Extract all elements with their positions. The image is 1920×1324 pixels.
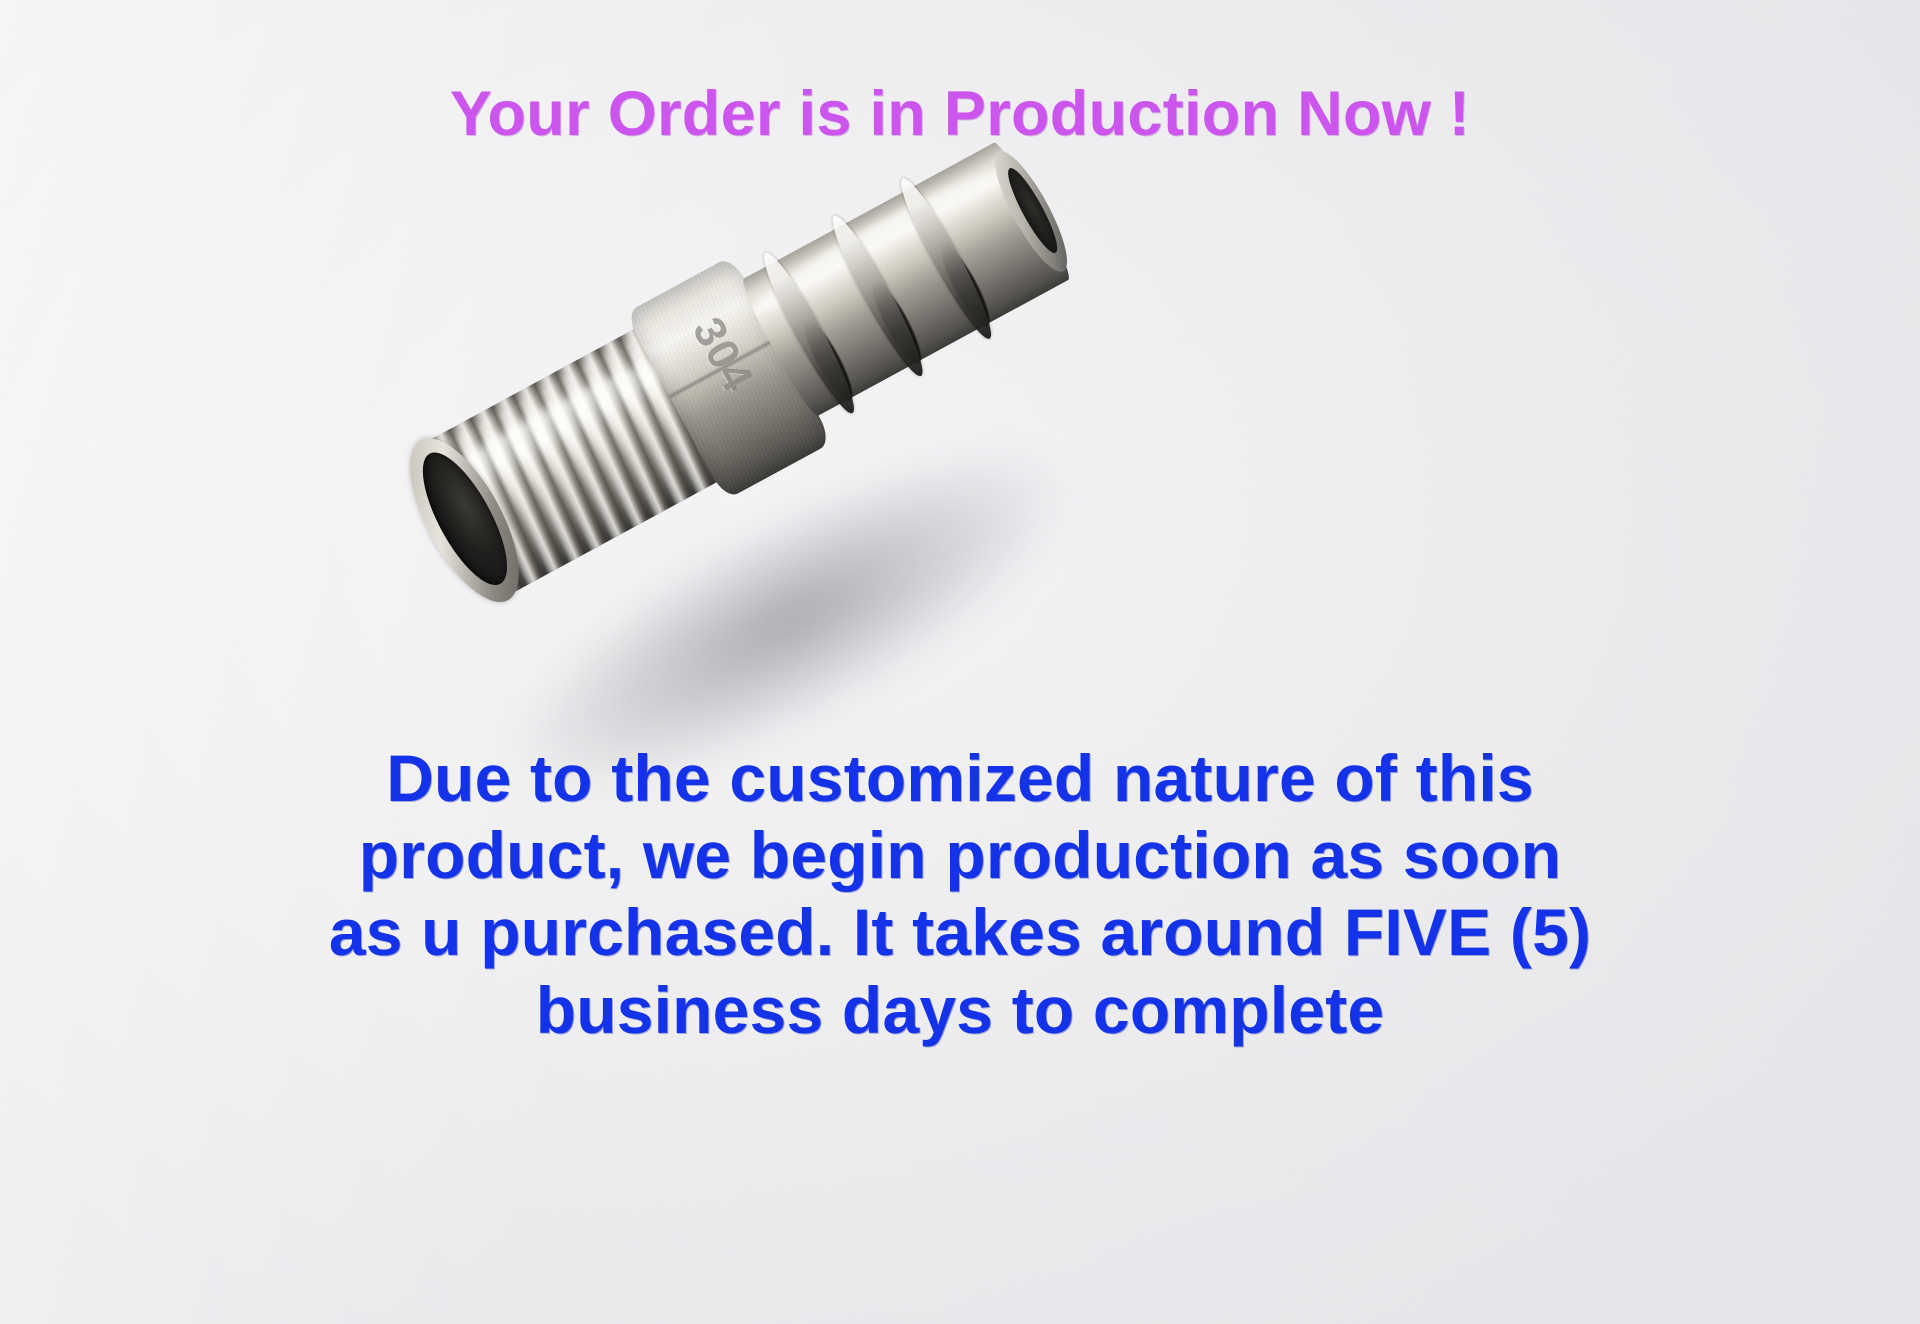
- promo-banner: Your Order is in Production Now ! 304: [0, 0, 1920, 1324]
- production-notice: Due to the customized nature of this pro…: [0, 740, 1920, 1049]
- notice-line-1: Due to the customized nature of this: [0, 740, 1920, 817]
- notice-line-4: business days to complete: [0, 972, 1920, 1049]
- product-image: 304: [440, 290, 1200, 750]
- notice-line-2: product, we begin production as soon: [0, 817, 1920, 894]
- notice-line-3: as u purchased. It takes around FIVE (5): [0, 894, 1920, 971]
